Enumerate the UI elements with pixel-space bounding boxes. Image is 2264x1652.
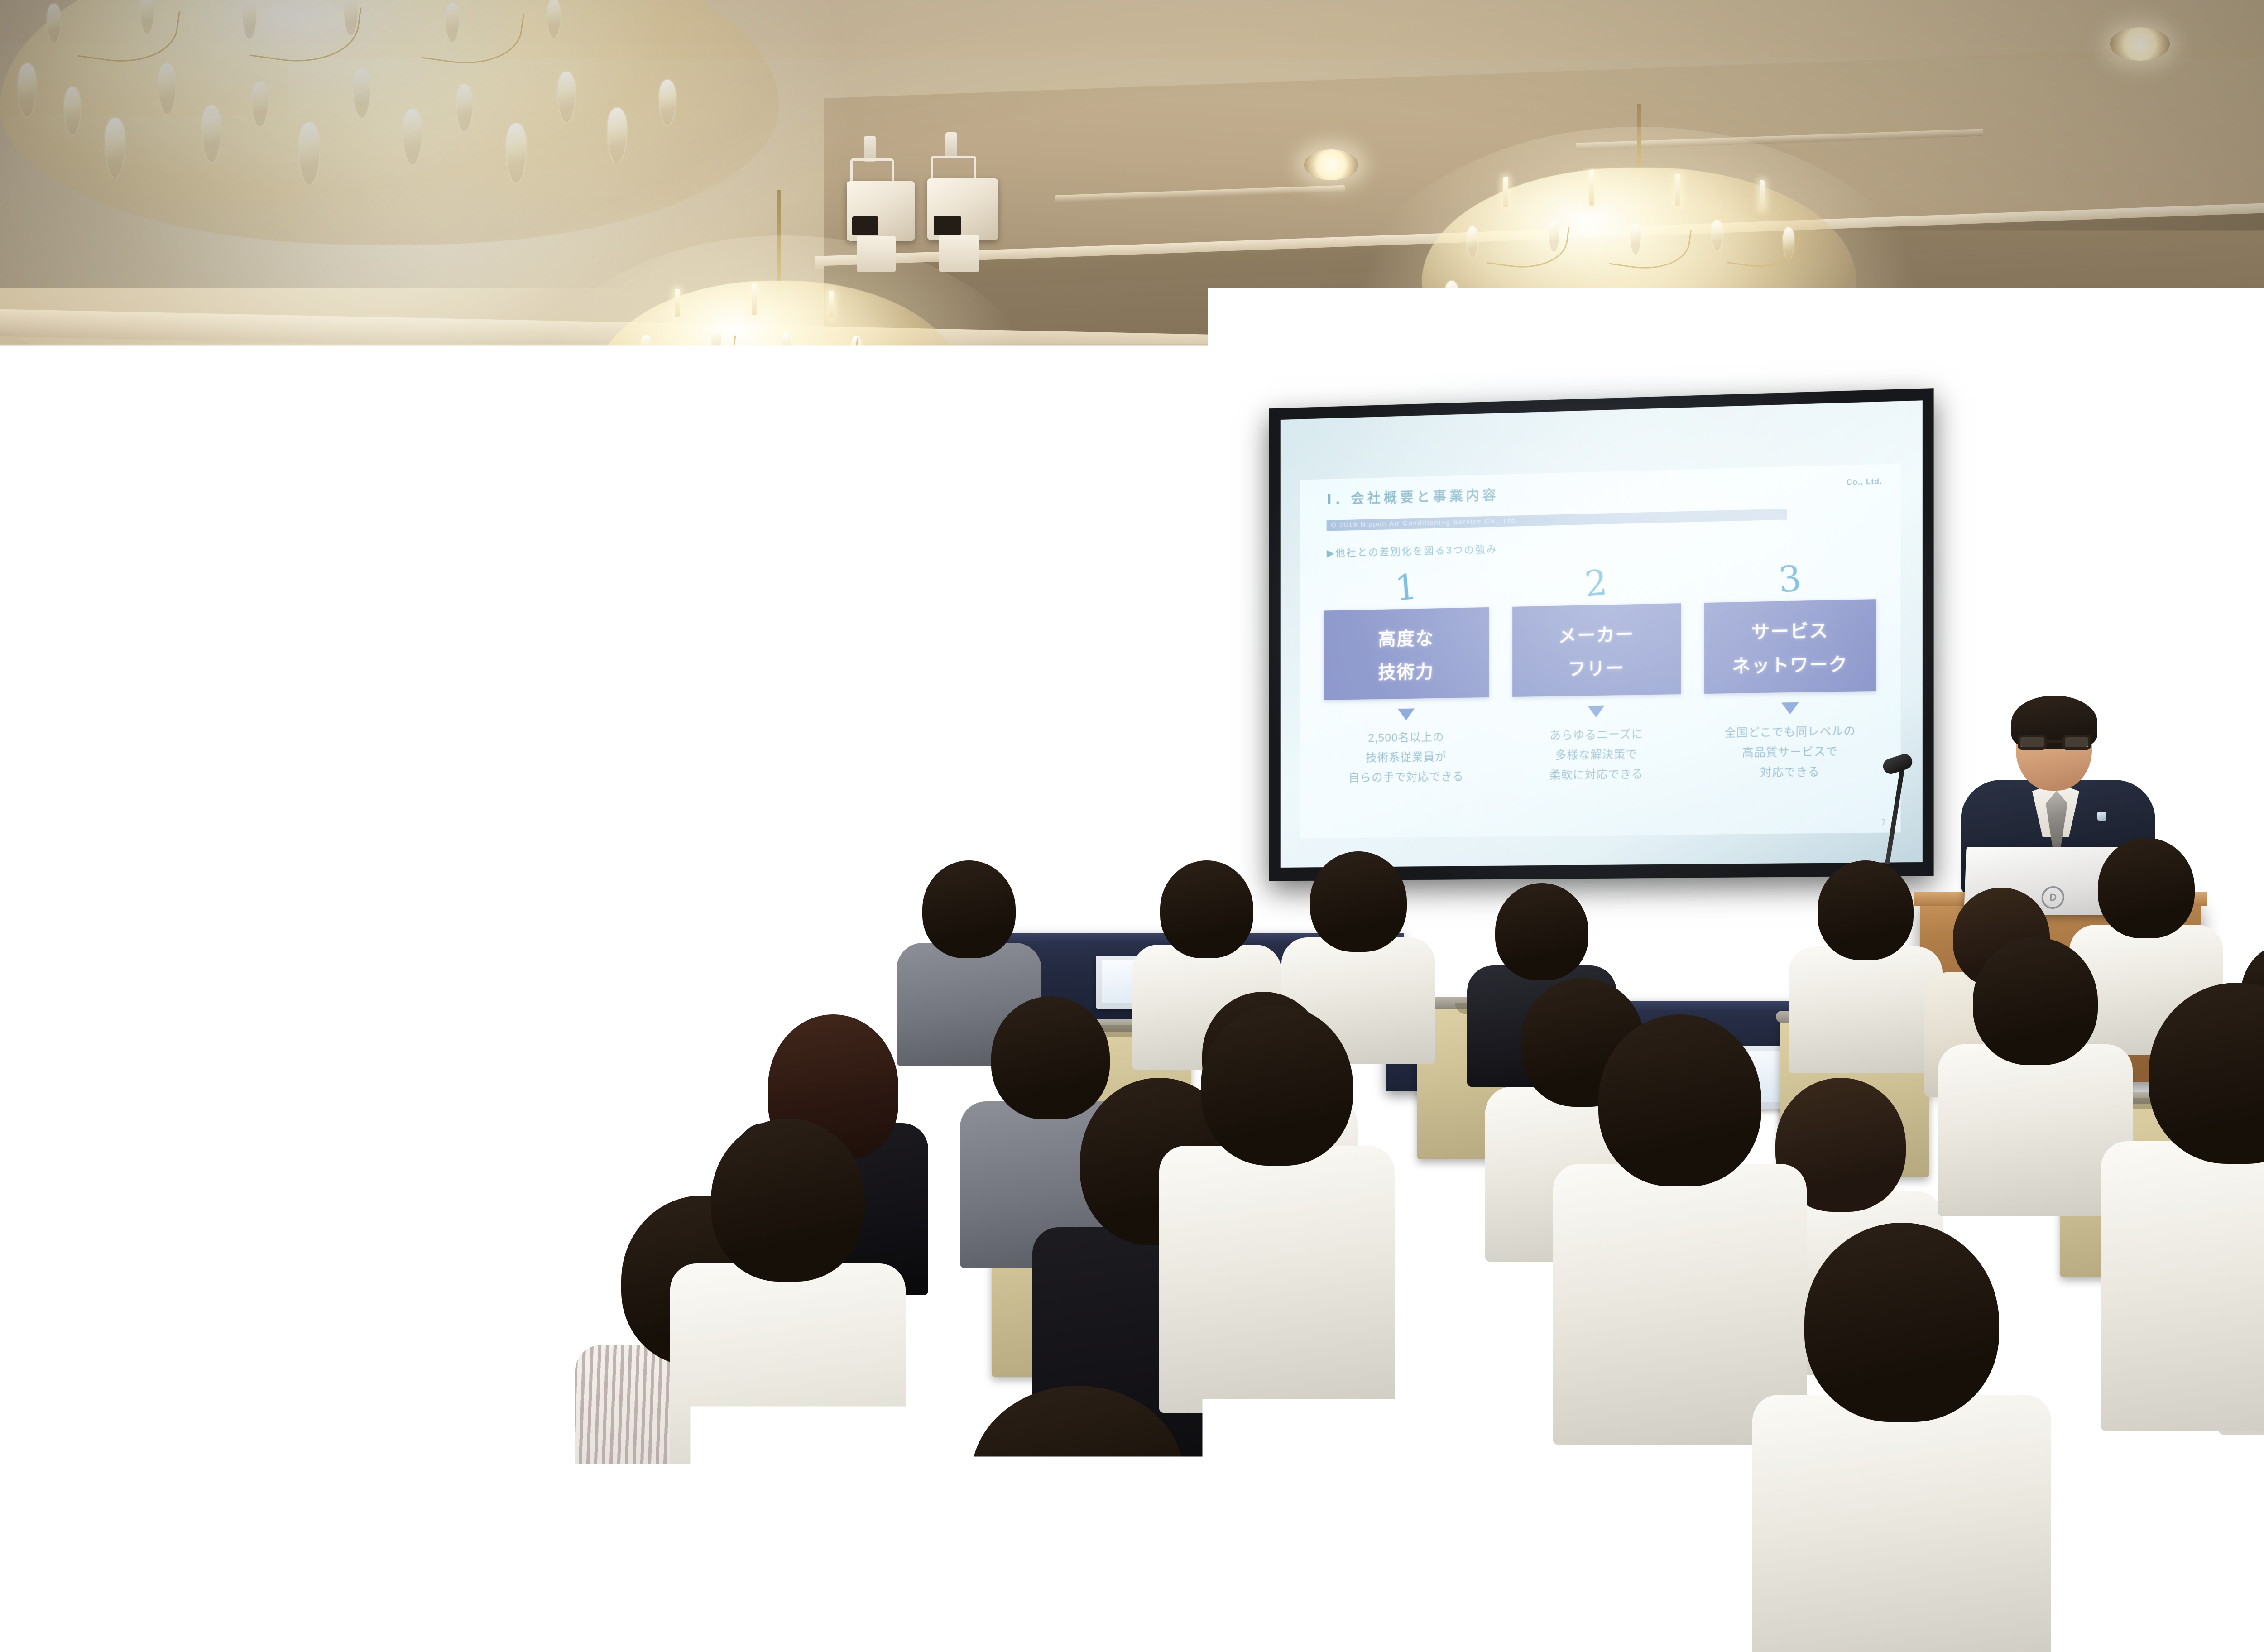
strength-box-line-1b: 技術力 [1378,657,1434,684]
slide-subtitle: ▶他社との差別化を図る3つの強み [1327,541,1498,560]
slide-copyright-text: © 2019 Nippon Air Conditioning Service C… [1331,517,1518,529]
strength-box-line-3b: ネットワーク [1732,649,1848,678]
strength-box-line-1a: 高度な [1378,624,1434,651]
attendee-mid-left-2 [761,811,910,1023]
presenter-lapel-pin [2097,812,2106,821]
chandelier-stem [777,190,781,294]
attendee-front-right-2 [1752,1223,2051,1652]
strength-desc-line-2c: 柔軟に対応できる [1549,764,1643,785]
attendee-front-bottom-center [915,1386,1241,1652]
strength-box-line-3a: サービス [1751,616,1829,644]
spotlight-barndoor-2 [939,235,979,272]
attendee-back-far-left [0,842,118,1037]
strength-desc-line-3c: 対応できる [1724,762,1856,783]
attendee-front-left-striped [23,1132,276,1540]
wall-panel-left-2 [317,399,543,806]
strength-box-3: サービス ネットワーク [1704,599,1876,694]
attendee-front-right-3 [2101,983,2264,1426]
downlight-center [1304,149,1358,180]
chandelier-crystal-array [561,281,996,575]
attendee-front-center-white [670,1119,906,1517]
projection-screen: Ⅰ．会社概要と事業内容 Co., Ltd. © 2019 Nippon Air … [1269,388,1934,881]
strength-desc-2: あらゆるニーズに 多様な解決策で 柔軟に対応できる [1549,725,1643,786]
down-arrow-icon-1 [1398,709,1415,720]
spotlight-barndoor [857,236,896,272]
attendee-right-back-1 [1789,860,1943,1069]
strength-desc-line-3a: 全国どこでも同レベルの [1724,722,1856,744]
strength-desc-line-1a: 2,500名以上の [1348,728,1463,749]
attendee-mid-row-left-2 [367,987,543,1245]
strength-number-2: 2 [1584,569,1609,600]
strength-desc-line-3b: 高品質サービスで [1724,742,1856,764]
slide-accent-bar: © 2019 Nippon Air Conditioning Service C… [1327,509,1787,531]
strength-desc-3: 全国どこでも同レベルの 高品質サービスで 対応できる [1724,722,1856,783]
strength-box-2: メーカー フリー [1512,603,1681,697]
strength-number-3: 3 [1777,564,1803,596]
attendee-front-left-big [290,1250,589,1652]
presentation-slide: Ⅰ．会社概要と事業内容 Co., Ltd. © 2019 Nippon Air … [1300,463,1901,838]
wall-pillar-center [1078,358,1182,928]
strength-box-line-2a: メーカー [1559,620,1635,648]
attendee-front-center-white-2 [1159,1005,1395,1404]
strength-desc-1: 2,500名以上の 技術系従業員が 自らの手で対応できる [1348,728,1463,788]
strength-column-2: 2 メーカー フリー あらゆるニーズに 多様な解決策で 柔軟に対応できる [1512,568,1681,825]
down-arrow-icon-2 [1588,706,1605,718]
strength-number-1: 1 [1394,573,1418,604]
slide-page-number: 7 [1881,818,1886,827]
strength-box-1: 高度な 技術力 [1324,607,1489,700]
projection-screen-surface: Ⅰ．会社概要と事業内容 Co., Ltd. © 2019 Nippon Air … [1281,400,1923,868]
wall-panel-left-1 [45,399,290,806]
downlight-right [2110,27,2170,61]
strength-column-1: 1 高度な 技術力 2,500名以上の 技術系従業員が 自らの手で対応できる [1324,572,1489,827]
slide-corporate-mark: Co., Ltd. [1847,477,1882,487]
wall-panel-behind-screen [1204,408,1259,797]
strength-desc-line-2b: 多様な解決策で [1549,745,1643,766]
chandelier-medium-left [561,281,996,575]
strength-box-line-2b: フリー [1568,653,1625,681]
spotlight-lens [852,216,878,235]
strength-column-3: 3 サービス ネットワーク 全国どこでも同レベルの 高品質サービスで 対応できる [1704,563,1876,823]
strength-desc-line-2a: あらゆるニーズに [1549,725,1643,746]
strength-desc-line-1c: 自らの手で対応できる [1348,767,1463,788]
slide-three-strengths: 1 高度な 技術力 2,500名以上の 技術系従業員が 自らの手で対応できる [1324,563,1876,827]
spotlight-hanger-2 [945,132,957,158]
down-arrow-icon-3 [1781,702,1799,715]
slide-title: Ⅰ．会社概要と事業内容 [1327,483,1499,508]
presenter-glasses-icon [2018,735,2091,750]
attendee-back-left-3 [385,815,525,1010]
spotlight-rig-left [829,136,1019,285]
seminar-room-photo: Ⅰ．会社概要と事業内容 Co., Ltd. © 2019 Nippon Air … [0,0,2264,1652]
spotlight-lens-2 [934,216,961,235]
strength-desc-line-1b: 技術系従業員が [1348,747,1463,768]
